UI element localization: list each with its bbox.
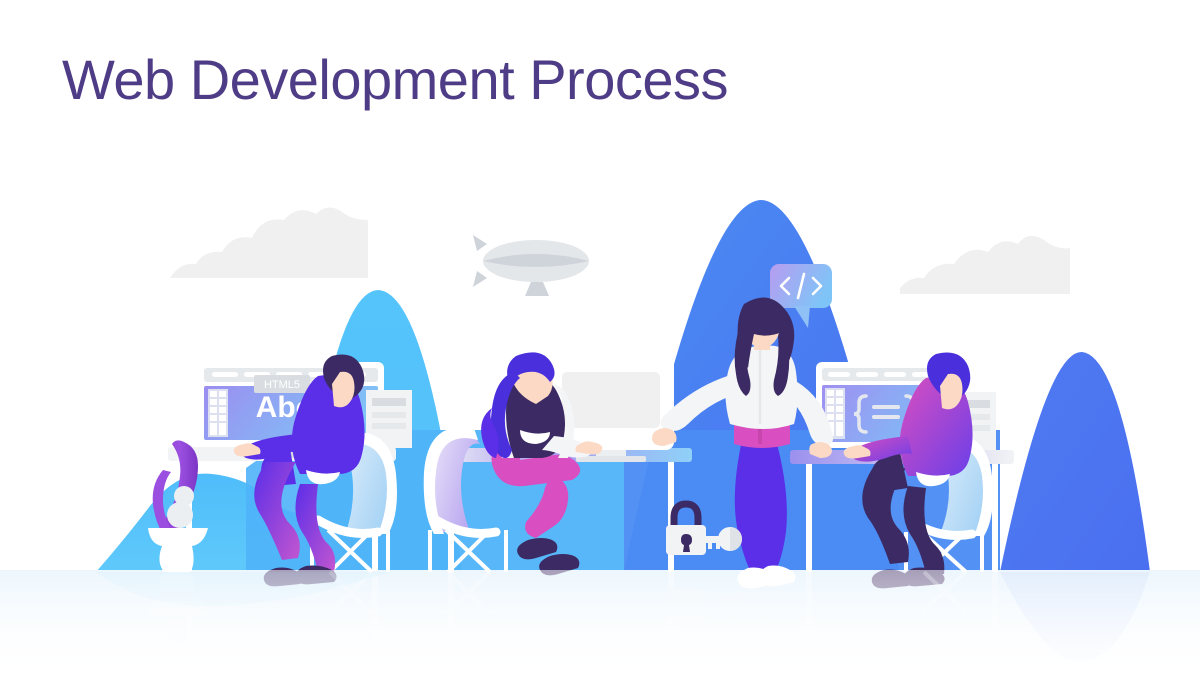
hill-right bbox=[1000, 352, 1150, 572]
illustration-page: HTML5 Abc bbox=[0, 0, 1200, 680]
cloud-right bbox=[900, 236, 1070, 294]
page-title: Web Development Process bbox=[62, 52, 728, 108]
cloud-left bbox=[170, 207, 368, 278]
html5-badge-label: HTML5 bbox=[264, 379, 300, 391]
monitor-left-sidebar-grid bbox=[208, 389, 228, 437]
floor-reflections bbox=[0, 556, 1200, 680]
zeppelin-icon bbox=[473, 235, 589, 296]
